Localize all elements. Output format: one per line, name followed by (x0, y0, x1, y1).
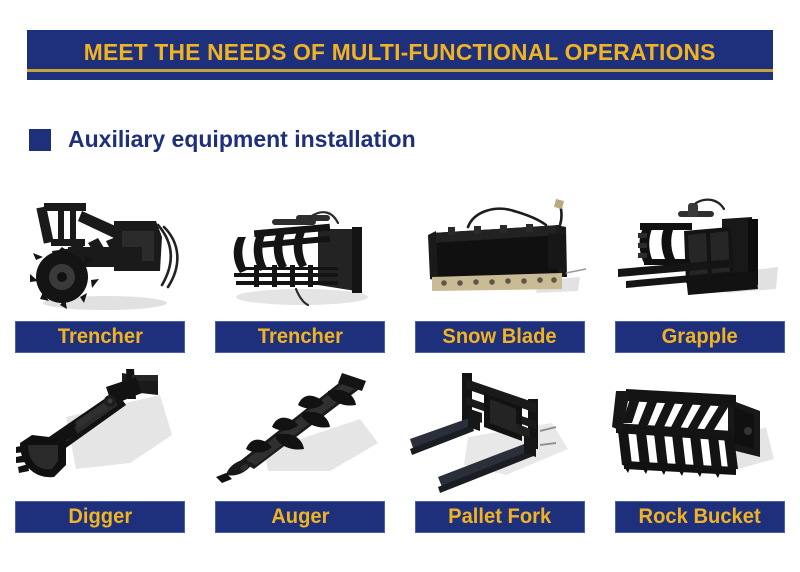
attachment-label-box[interactable]: Digger (15, 501, 185, 533)
attachment-label-box[interactable]: Pallet Fork (415, 501, 585, 533)
product-attachments-slide: MEET THE NEEDS OF MULTI-FUNCTIONAL OPERA… (0, 0, 800, 572)
header-bottom-strip (27, 72, 773, 80)
pallet-fork-attachment-image (410, 365, 590, 495)
attachment-label: Grapple (662, 326, 738, 347)
attachment-card-trencher-chain[interactable]: Trencher (0, 185, 200, 353)
attachment-row-1: Trencher (0, 185, 800, 353)
attachment-label: Snow Blade (443, 326, 557, 347)
attachment-card-pallet-fork[interactable]: Pallet Fork (400, 365, 600, 533)
subtitle-label: Auxiliary equipment installation (68, 126, 416, 153)
attachment-label-box[interactable]: Trencher (215, 321, 385, 353)
rock-bucket-attachment-image (610, 365, 790, 495)
attachment-label-box[interactable]: Auger (215, 501, 385, 533)
attachment-card-snow-blade[interactable]: Snow Blade (400, 185, 600, 353)
attachment-label-box[interactable]: Rock Bucket (615, 501, 785, 533)
attachment-label: Pallet Fork (448, 506, 551, 527)
attachment-card-auger[interactable]: Auger (200, 365, 400, 533)
snow-blade-attachment-image (410, 185, 590, 315)
attachment-card-trencher-rake[interactable]: Trencher (200, 185, 400, 353)
attachment-label: Trencher (257, 326, 342, 347)
grapple-attachment-image (610, 185, 790, 315)
attachment-label-box[interactable]: Trencher (15, 321, 185, 353)
attachment-card-rock-bucket[interactable]: Rock Bucket (600, 365, 800, 533)
subtitle: Auxiliary equipment installation (29, 126, 416, 153)
square-bullet-icon (29, 129, 51, 151)
attachment-label-box[interactable]: Grapple (615, 321, 785, 353)
trencher-rake-attachment-image (210, 185, 390, 315)
page-title: MEET THE NEEDS OF MULTI-FUNCTIONAL OPERA… (84, 39, 716, 66)
attachment-label: Auger (271, 506, 329, 527)
trencher-chain-attachment-image (10, 185, 190, 315)
attachment-card-digger[interactable]: Digger (0, 365, 200, 533)
attachment-row-2: Digger (0, 365, 800, 533)
digger-backhoe-attachment-image (10, 365, 190, 495)
auger-drill-attachment-image (210, 365, 390, 495)
attachment-label: Trencher (57, 326, 142, 347)
attachment-label-box[interactable]: Snow Blade (415, 321, 585, 353)
attachment-label: Digger (68, 506, 132, 527)
attachment-label: Rock Bucket (639, 506, 761, 527)
attachment-card-grapple[interactable]: Grapple (600, 185, 800, 353)
